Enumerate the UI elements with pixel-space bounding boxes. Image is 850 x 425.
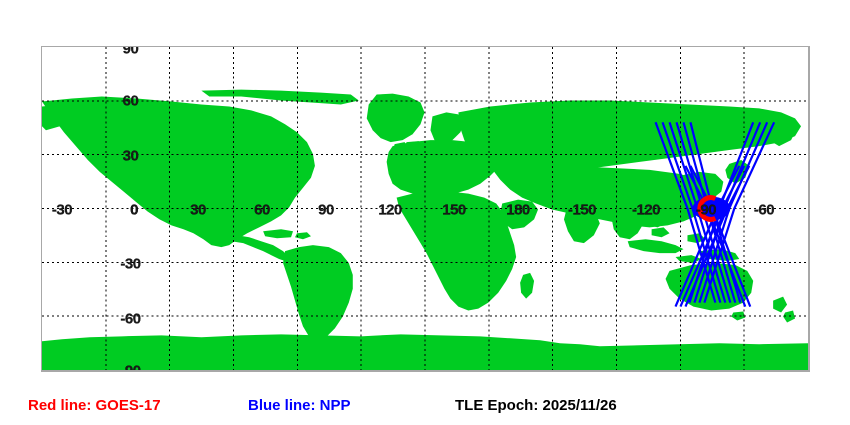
- landmass-north-america: [42, 97, 315, 248]
- ground-track-app: 90 60 30 0 -30 -60 -90 -30 0 30 60 90 12…: [0, 0, 850, 425]
- lat-tick--30: -30: [120, 257, 140, 272]
- lon-tick-60: 60: [254, 203, 270, 218]
- map-canvas: [42, 47, 808, 370]
- legend-tle-epoch: TLE Epoch: 2025/11/26: [455, 398, 617, 413]
- landmass-caribbean: [263, 229, 311, 239]
- lon-tick--120: -120: [632, 203, 660, 218]
- lon-tick--90: -90: [696, 203, 716, 218]
- lat-tick--90: -90: [120, 364, 140, 373]
- landmass-south-america: [283, 245, 353, 340]
- lon-tick--30: -30: [52, 203, 72, 218]
- legend-blue-line-npp: Blue line: NPP: [248, 398, 351, 413]
- lon-tick-0: 0: [130, 203, 138, 218]
- lon-tick--60: -60: [754, 203, 774, 218]
- lon-tick--150: -150: [568, 203, 596, 218]
- landmass-tasmania: [731, 312, 745, 321]
- lon-tick-150: 150: [442, 203, 466, 218]
- lat-tick-30: 30: [123, 148, 139, 163]
- legend-red-line-goes17: Red line: GOES-17: [28, 398, 161, 413]
- lat-tick--60: -60: [120, 311, 140, 326]
- world-map-plot[interactable]: 90 60 30 0 -30 -60 -90 -30 0 30 60 90 12…: [41, 46, 810, 372]
- lon-tick-30: 30: [190, 203, 206, 218]
- landmass-new-zealand: [773, 297, 795, 323]
- lon-tick-90: 90: [318, 203, 334, 218]
- lat-tick-90: 90: [123, 46, 139, 57]
- landmass-arctic-islands: [201, 90, 358, 105]
- lon-tick-120: 120: [378, 203, 402, 218]
- lat-tick-60: 60: [123, 94, 139, 109]
- landmass-central-america: [231, 235, 289, 261]
- legend-bar: Red line: GOES-17 Blue line: NPP TLE Epo…: [0, 392, 850, 425]
- landmass-madagascar: [520, 273, 534, 299]
- lon-tick-180: 180: [506, 203, 530, 218]
